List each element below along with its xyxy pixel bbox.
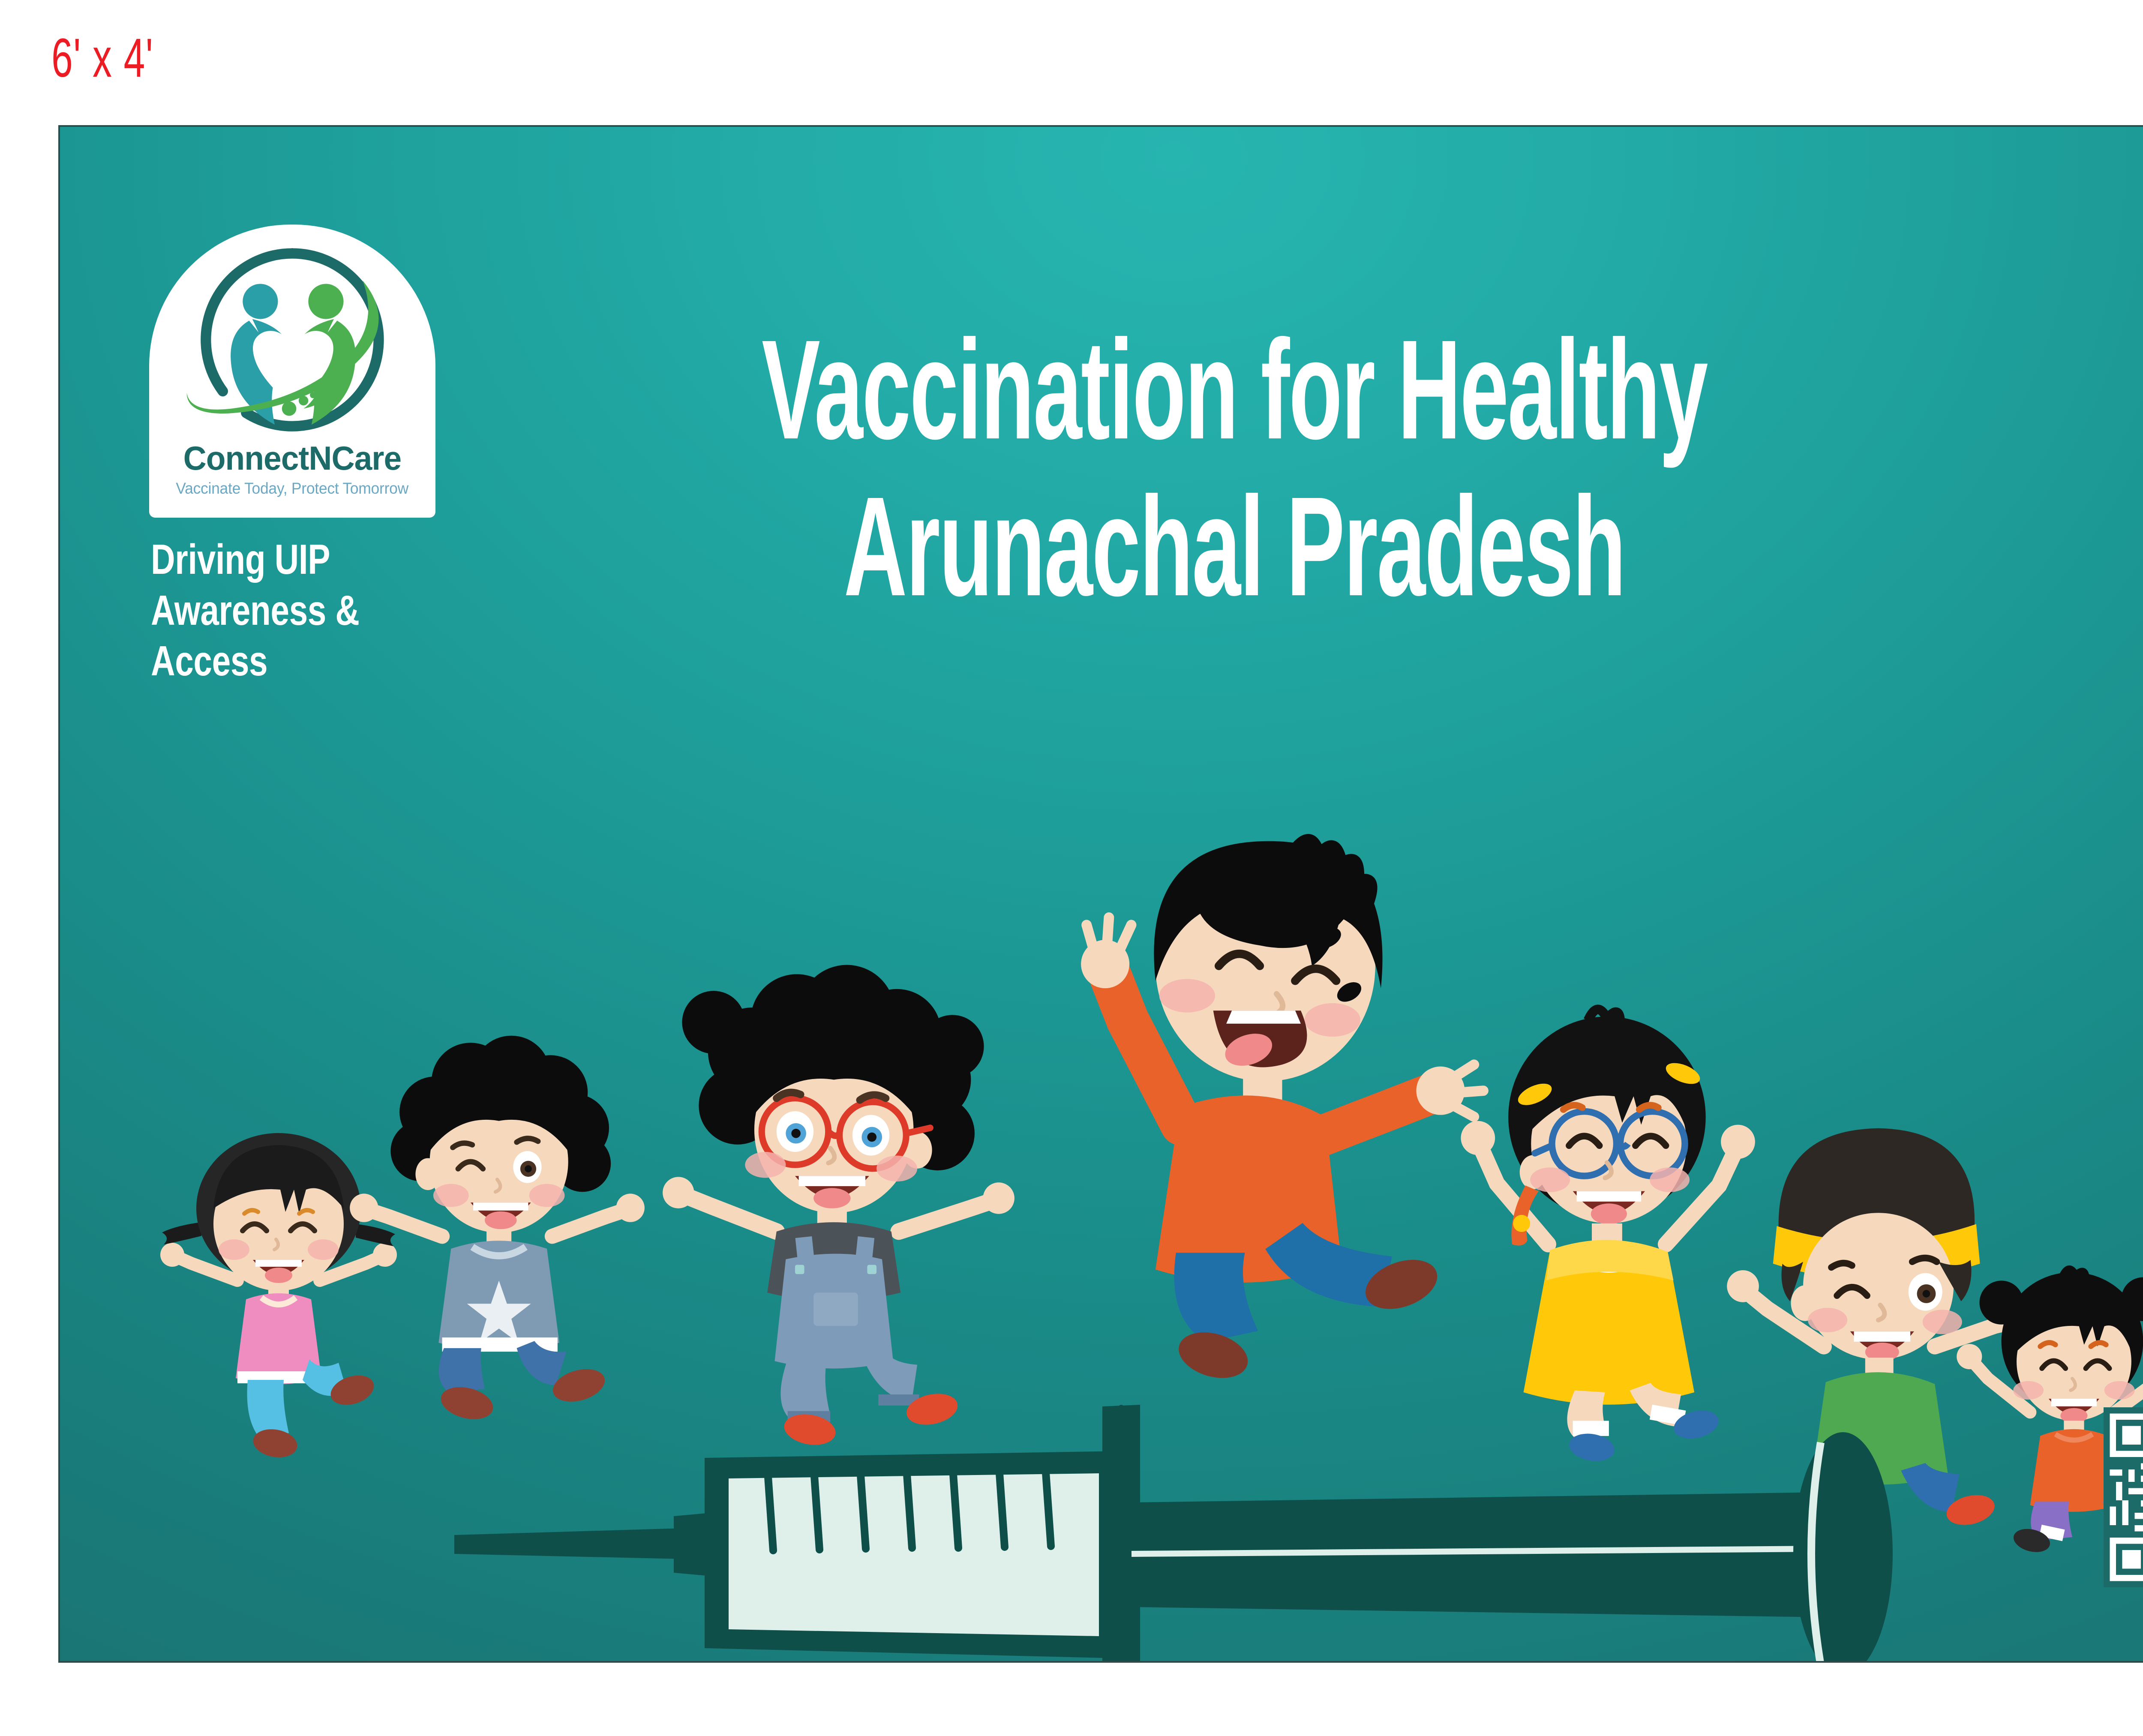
page-title: Vaccination for Healthy Arunachal Prades… <box>399 311 2070 625</box>
sidebar-caption-line-1: Driving UIP <box>151 534 405 585</box>
poster-canvas: ConnectNCare Vaccinate Today, Protect To… <box>58 125 2143 1663</box>
qr-code[interactable] <box>2104 1407 2143 1587</box>
headline-line-2: Arunachal Pradesh <box>716 468 1753 625</box>
child-overalls-girl-red-glasses <box>639 967 1033 1430</box>
connectncare-emblem-icon <box>172 236 412 444</box>
logo-tagline: Vaccinate Today, Protect Tomorrow <box>176 480 409 496</box>
sidebar-caption-line-3: Access <box>151 636 405 687</box>
syringe-illustration <box>454 1382 1920 1663</box>
child-star-tee-boy <box>328 1027 666 1400</box>
sidebar-caption-line-2: Awareness & <box>151 585 405 636</box>
poster-size-label: 6' x 4' <box>51 27 153 90</box>
headline-line-1: Vaccination for Healthy <box>716 311 1753 468</box>
logo-card: ConnectNCare Vaccinate Today, Protect To… <box>149 225 435 518</box>
logo-wordmark: ConnectNCare <box>183 441 402 475</box>
